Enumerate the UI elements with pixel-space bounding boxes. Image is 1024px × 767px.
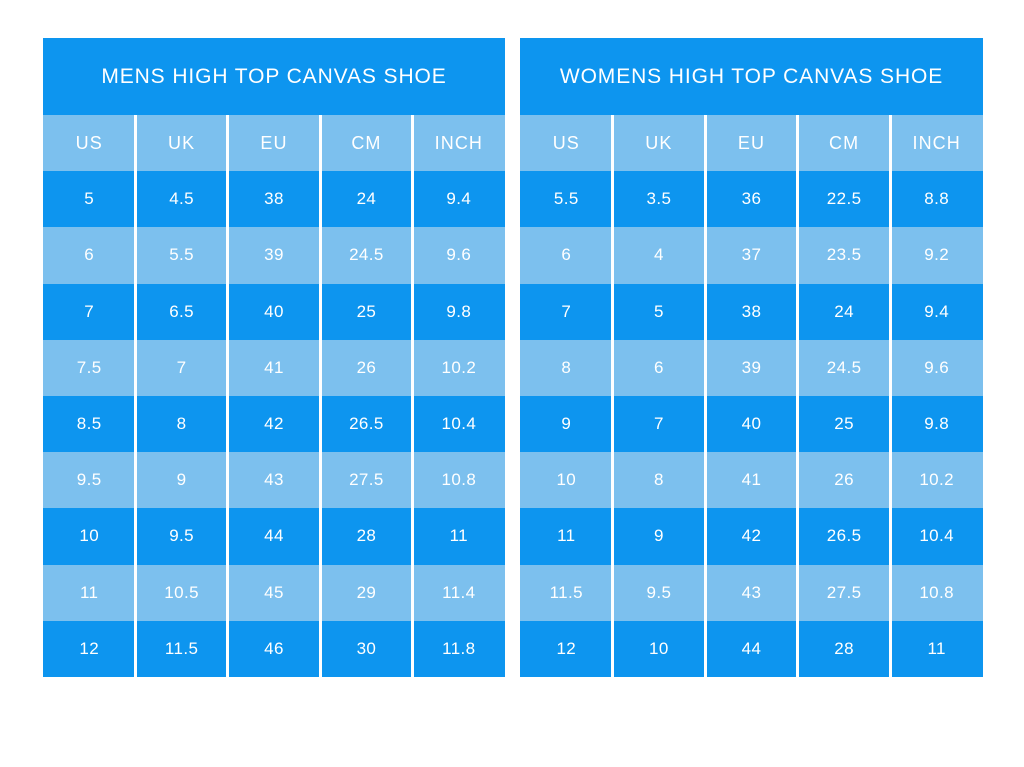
table-cell: 38 [228,171,320,227]
table-cell: 24 [320,171,412,227]
table-cell: 25 [798,396,891,452]
table-cell: 9.6 [413,227,505,283]
table-row: 8.5 8 42 26.5 10.4 [43,396,505,452]
table-cell: 7 [613,396,706,452]
table-cell: 40 [228,284,320,340]
table-cell: 36 [705,171,798,227]
table-cell: 8.8 [890,171,983,227]
table-cell: 26.5 [320,396,412,452]
table-cell: 7.5 [43,340,135,396]
table-cell: 6 [613,340,706,396]
table-cell: 44 [705,621,798,677]
mens-column-header-row: US UK EU CM INCH [43,115,505,171]
mens-column-header-inch: INCH [413,115,505,171]
table-cell: 25 [320,284,412,340]
table-cell: 9 [613,508,706,564]
size-chart-page: MENS HIGH TOP CANVAS SHOE US UK EU CM IN… [0,0,1024,767]
table-cell: 40 [705,396,798,452]
table-cell: 4.5 [135,171,227,227]
table-cell: 9.2 [890,227,983,283]
table-cell: 10.8 [890,565,983,621]
table-cell: 8 [135,396,227,452]
table-cell: 5 [613,284,706,340]
table-cell: 5 [43,171,135,227]
table-cell: 28 [798,621,891,677]
table-cell: 9.4 [890,284,983,340]
mens-size-chart: MENS HIGH TOP CANVAS SHOE US UK EU CM IN… [43,38,505,680]
table-cell: 6 [43,227,135,283]
womens-size-chart: WOMENS HIGH TOP CANVAS SHOE US UK EU CM … [520,38,983,680]
table-row: 7 6.5 40 25 9.8 [43,284,505,340]
womens-column-header-uk: UK [613,115,706,171]
table-cell: 46 [228,621,320,677]
mens-column-header-eu: EU [228,115,320,171]
table-cell: 9 [135,452,227,508]
table-row: 11 9 42 26.5 10.4 [520,508,983,564]
table-cell: 42 [228,396,320,452]
table-cell: 45 [228,565,320,621]
table-cell: 24.5 [798,340,891,396]
table-row: 12 10 44 28 11 [520,621,983,677]
table-cell: 9 [520,396,613,452]
womens-column-header-row: US UK EU CM INCH [520,115,983,171]
table-cell: 26 [798,452,891,508]
table-cell: 10.5 [135,565,227,621]
womens-column-header-inch: INCH [890,115,983,171]
table-row: 9.5 9 43 27.5 10.8 [43,452,505,508]
table-row: 11.5 9.5 43 27.5 10.8 [520,565,983,621]
table-cell: 5.5 [135,227,227,283]
table-cell: 28 [320,508,412,564]
table-cell: 11 [520,508,613,564]
table-cell: 9.5 [135,508,227,564]
table-cell: 9.4 [413,171,505,227]
table-cell: 11.8 [413,621,505,677]
table-cell: 11 [890,621,983,677]
table-row: 7 5 38 24 9.4 [520,284,983,340]
table-cell: 41 [705,452,798,508]
table-cell: 10.4 [890,508,983,564]
table-cell: 11.5 [520,565,613,621]
mens-column-header-us: US [43,115,135,171]
mens-column-header-cm: CM [320,115,412,171]
table-cell: 8 [520,340,613,396]
table-cell: 27.5 [798,565,891,621]
table-cell: 27.5 [320,452,412,508]
table-cell: 4 [613,227,706,283]
table-cell: 12 [520,621,613,677]
table-cell: 9.6 [890,340,983,396]
table-row: 8 6 39 24.5 9.6 [520,340,983,396]
table-cell: 24.5 [320,227,412,283]
table-row: 11 10.5 45 29 11.4 [43,565,505,621]
table-row: 10 8 41 26 10.2 [520,452,983,508]
table-cell: 9.8 [890,396,983,452]
table-row: 5.5 3.5 36 22.5 8.8 [520,171,983,227]
table-row: 7.5 7 41 26 10.2 [43,340,505,396]
table-cell: 41 [228,340,320,396]
table-cell: 7 [43,284,135,340]
table-cell: 10 [43,508,135,564]
table-cell: 6.5 [135,284,227,340]
table-row: 12 11.5 46 30 11.8 [43,621,505,677]
womens-column-header-us: US [520,115,613,171]
womens-column-header-cm: CM [798,115,891,171]
womens-column-header-eu: EU [705,115,798,171]
table-cell: 39 [705,340,798,396]
mens-chart-title: MENS HIGH TOP CANVAS SHOE [43,38,505,115]
table-cell: 10.2 [890,452,983,508]
table-cell: 6 [520,227,613,283]
table-cell: 23.5 [798,227,891,283]
table-cell: 42 [705,508,798,564]
table-row: 6 4 37 23.5 9.2 [520,227,983,283]
table-row: 9 7 40 25 9.8 [520,396,983,452]
table-cell: 26 [320,340,412,396]
table-cell: 10.2 [413,340,505,396]
mens-column-header-uk: UK [135,115,227,171]
table-cell: 29 [320,565,412,621]
table-cell: 43 [705,565,798,621]
table-cell: 22.5 [798,171,891,227]
table-cell: 3.5 [613,171,706,227]
table-row: 10 9.5 44 28 11 [43,508,505,564]
table-cell: 39 [228,227,320,283]
table-row: 5 4.5 38 24 9.4 [43,171,505,227]
table-cell: 11 [413,508,505,564]
table-cell: 10.4 [413,396,505,452]
table-cell: 9.8 [413,284,505,340]
table-cell: 11.4 [413,565,505,621]
table-cell: 11.5 [135,621,227,677]
table-cell: 30 [320,621,412,677]
table-cell: 10 [613,621,706,677]
table-cell: 11 [43,565,135,621]
table-cell: 44 [228,508,320,564]
table-cell: 9.5 [613,565,706,621]
table-cell: 5.5 [520,171,613,227]
table-cell: 10.8 [413,452,505,508]
table-row: 6 5.5 39 24.5 9.6 [43,227,505,283]
table-cell: 24 [798,284,891,340]
table-cell: 37 [705,227,798,283]
table-cell: 26.5 [798,508,891,564]
table-cell: 9.5 [43,452,135,508]
table-cell: 43 [228,452,320,508]
table-cell: 12 [43,621,135,677]
womens-chart-title: WOMENS HIGH TOP CANVAS SHOE [520,38,983,115]
table-cell: 8 [613,452,706,508]
table-cell: 10 [520,452,613,508]
table-cell: 7 [520,284,613,340]
table-cell: 38 [705,284,798,340]
table-cell: 8.5 [43,396,135,452]
table-cell: 7 [135,340,227,396]
